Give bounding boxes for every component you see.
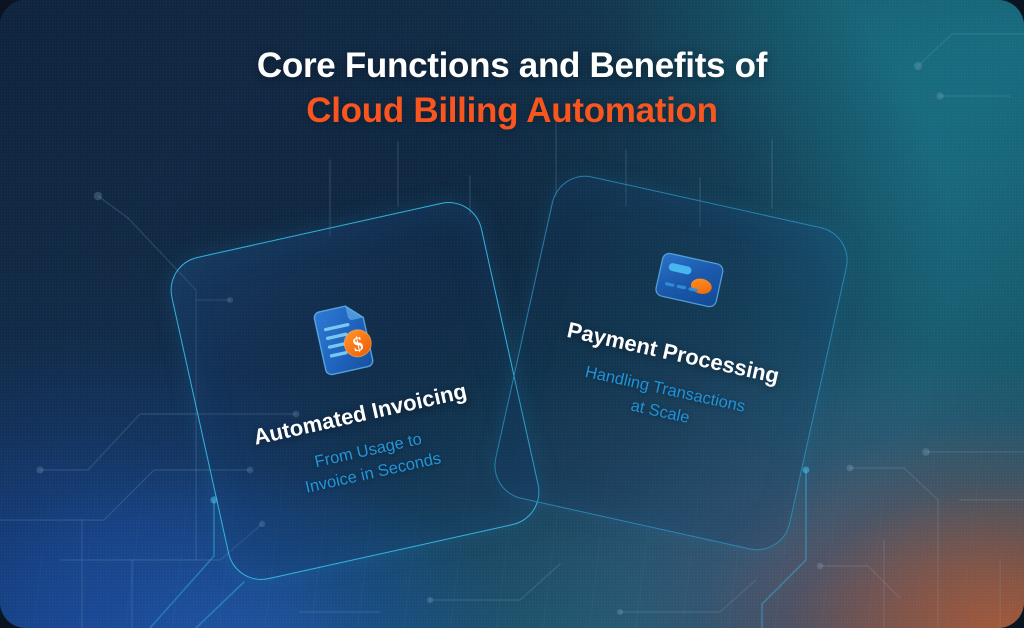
infographic-canvas: $ Automated Invoicing From Usage to Invo… — [0, 0, 1024, 628]
credit-card-icon — [652, 251, 726, 315]
invoice-document-dollar-icon: $ — [306, 300, 382, 383]
feature-card-payment-processing[interactable]: Payment Processing Handling Transactions… — [488, 169, 854, 557]
page-title-line-2: Cloud Billing Automation — [0, 89, 1024, 134]
page-title-line-1: Core Functions and Benefits of — [0, 44, 1024, 89]
feature-card-automated-invoicing[interactable]: $ Automated Invoicing From Usage to Invo… — [164, 195, 546, 586]
page-title: Core Functions and Benefits of Cloud Bil… — [0, 44, 1024, 134]
